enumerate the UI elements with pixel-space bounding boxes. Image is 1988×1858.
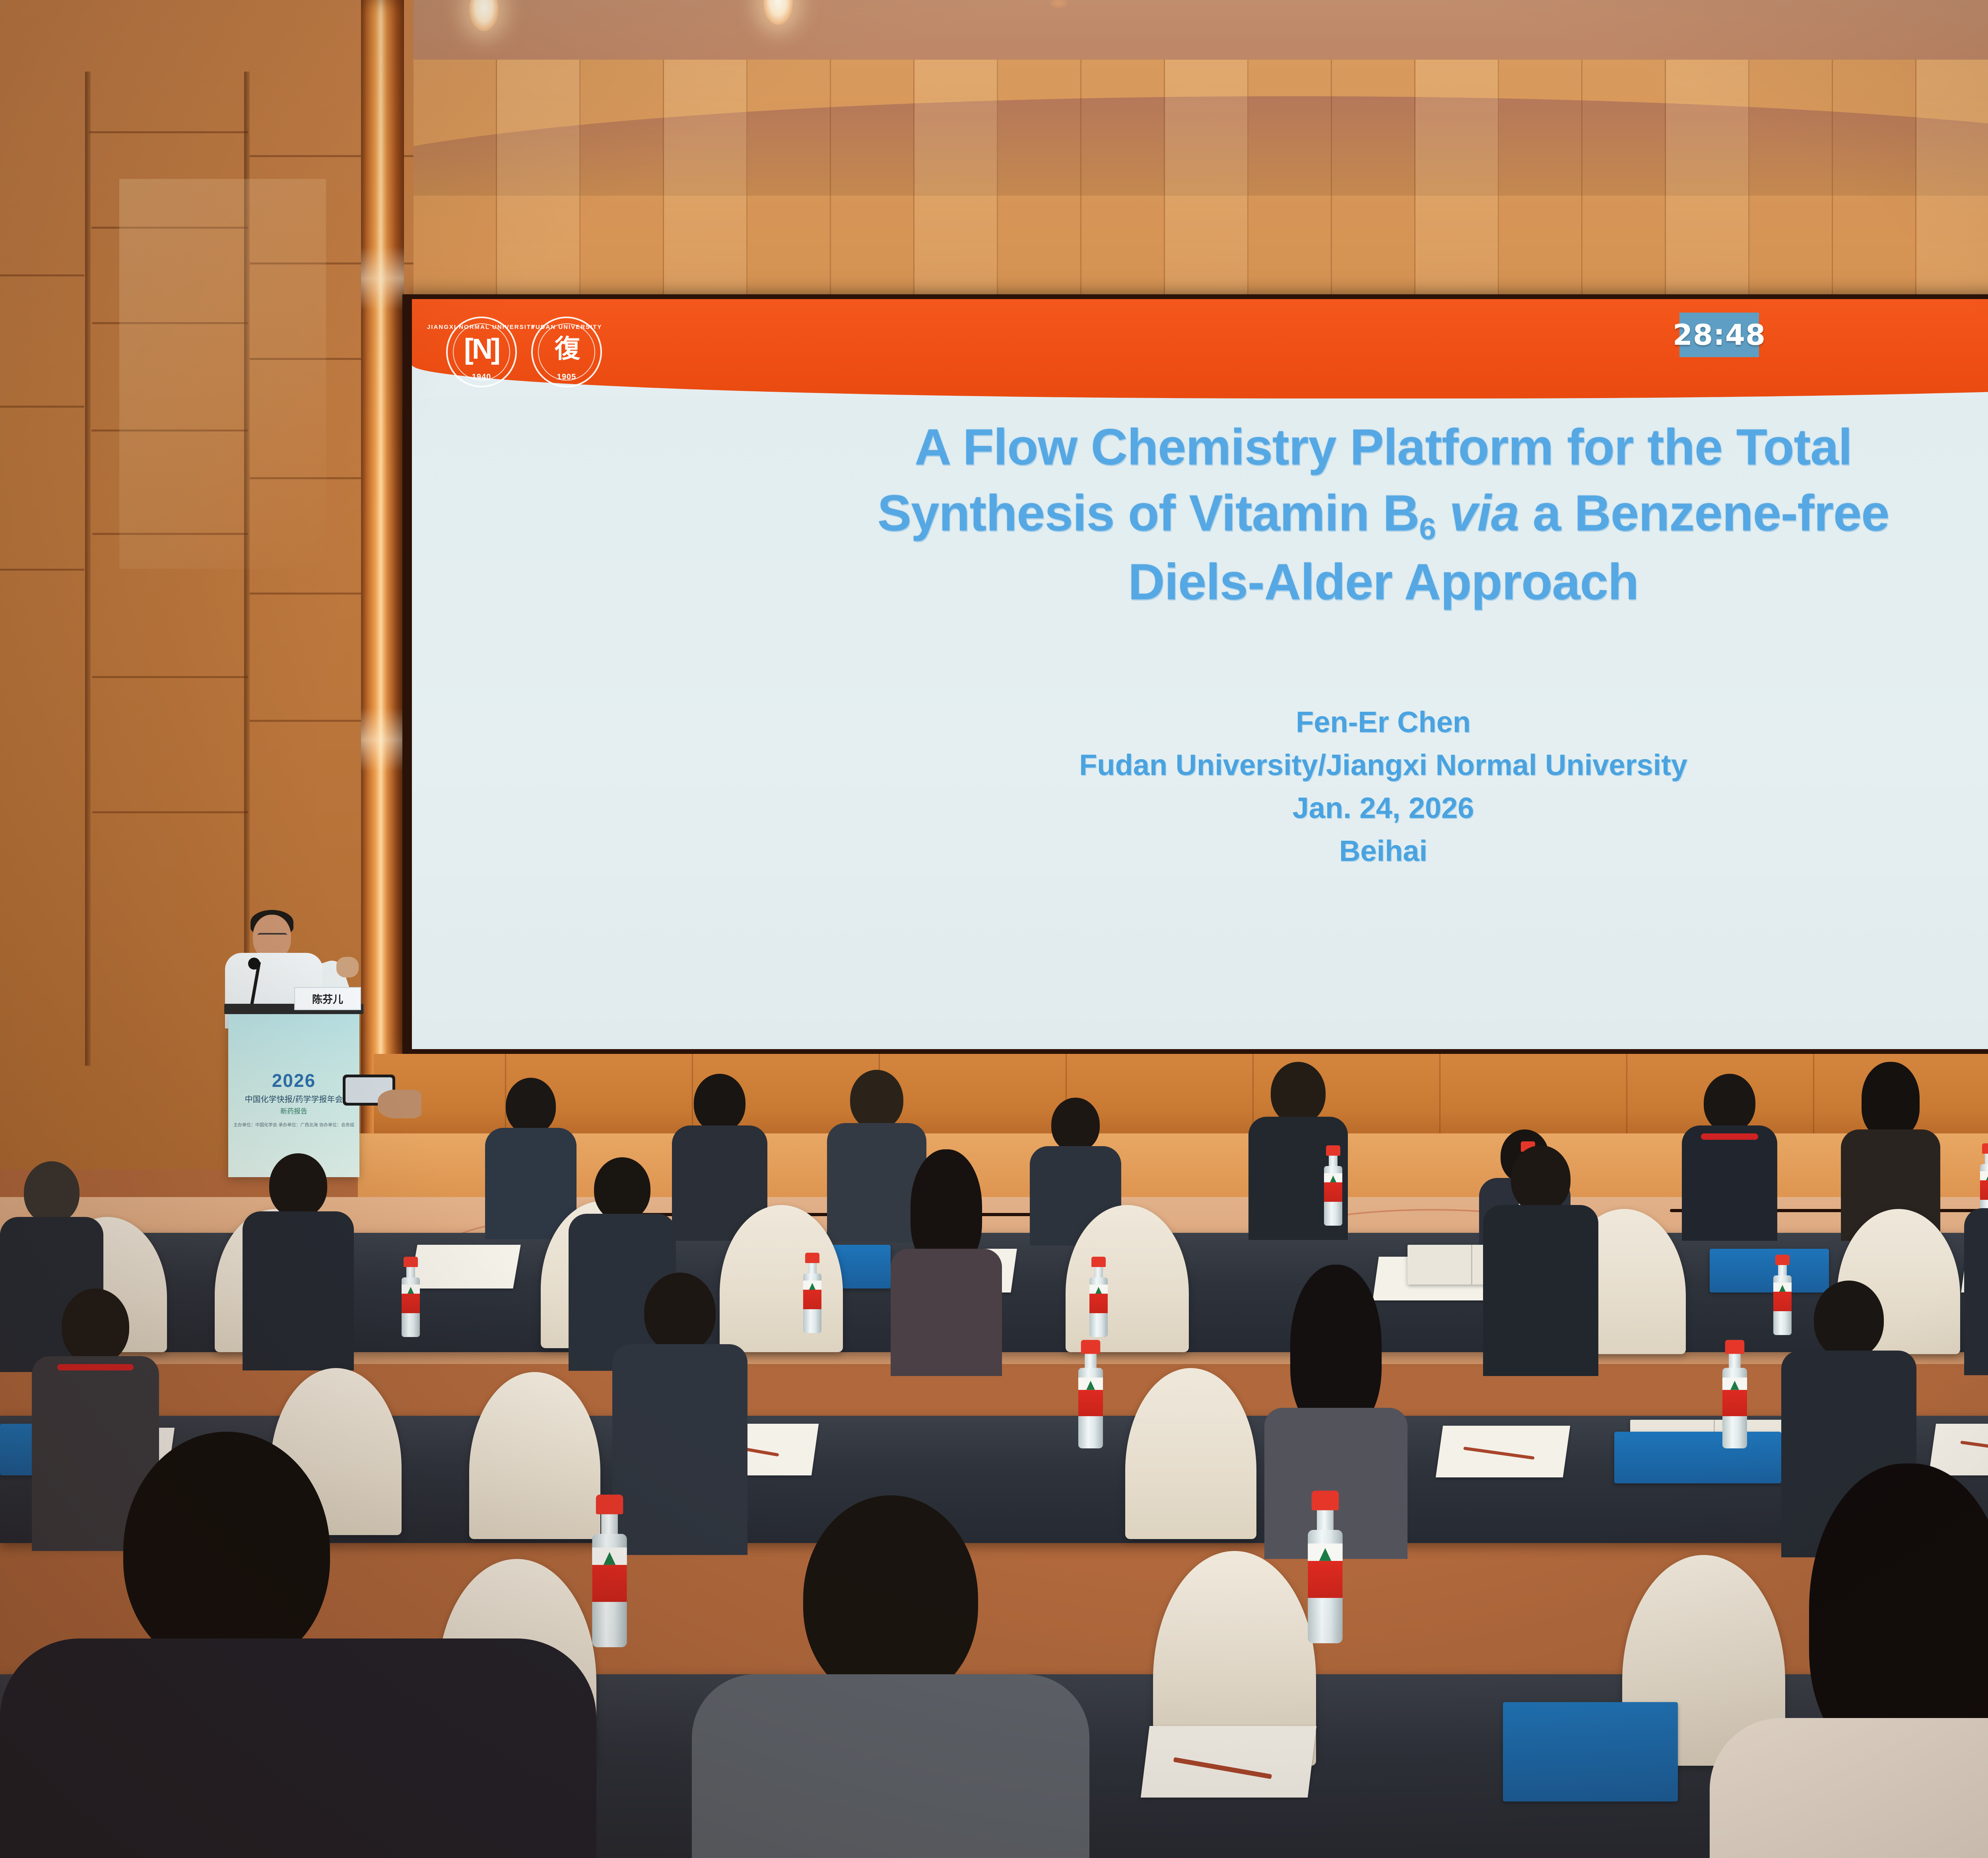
speaker-hand [336, 957, 359, 978]
bottle-leaf-icon [809, 1283, 815, 1290]
bottle-leaf-icon [1330, 1176, 1336, 1182]
projection-screen[interactable]: JIANGXI NORMAL UNIVERSITY [N] 1940 FUDAN… [412, 299, 1988, 1049]
slide-title-via: via [1449, 485, 1519, 542]
bottle-neck [808, 1263, 817, 1273]
bottle-leaf-icon [1086, 1381, 1095, 1390]
column-glint [361, 708, 404, 772]
attendee [891, 1149, 1002, 1372]
bottle-body [1324, 1166, 1342, 1226]
column-glint [361, 247, 404, 310]
attendee-head [1511, 1145, 1571, 1212]
attendee-body [692, 1674, 1089, 1858]
attendee-body [1710, 1718, 1988, 1858]
bottle-body [592, 1534, 627, 1647]
attendee [1483, 1145, 1598, 1372]
attendee-head [594, 1157, 650, 1221]
slide-title-line3: Diels-Alder Approach [412, 549, 1988, 615]
stage-panel-seam [1626, 1054, 1627, 1133]
attendee [0, 1432, 596, 1858]
attendee-head [1814, 1281, 1884, 1359]
copper-column-left [361, 0, 404, 1169]
wall-seam-horizontal [89, 131, 248, 133]
attendee-head [269, 1153, 327, 1218]
speaker-nameplate: 陈芬儿 [294, 987, 361, 1010]
note-paper [410, 1245, 520, 1289]
countdown-timer-value: 28:48 [1673, 318, 1766, 352]
attendee [1710, 1463, 1988, 1858]
conference-folder [1503, 1702, 1678, 1802]
attendee-head [123, 1432, 330, 1670]
slide-author-block: Fen-Er Chen Fudan University/Jiangxi Nor… [412, 701, 1988, 873]
slide-title-line2: Synthesis of Vitamin B6 via a Benzene-fr… [412, 480, 1988, 549]
bottle-neck [1329, 1156, 1338, 1166]
attendee-body [1964, 1208, 1988, 1375]
logo-mark: 復 [555, 336, 579, 362]
attendee-body [0, 1638, 596, 1858]
presentation-date: Jan. 24, 2026 [412, 787, 1988, 830]
bottle-leaf-icon [1319, 1548, 1331, 1561]
bottle-cap [596, 1495, 623, 1514]
slide-title-line1: A Flow Chemistry Platform for the Total [412, 414, 1988, 480]
bottle-neck [1778, 1265, 1787, 1275]
wall-seam-horizontal [0, 274, 84, 276]
bottle-neck [406, 1267, 415, 1277]
attendee-head [24, 1161, 80, 1223]
attendee-hair [1290, 1265, 1382, 1432]
bottle-leaf-icon [408, 1287, 414, 1294]
slide-title-line2-a: Synthesis of Vitamin B [878, 485, 1419, 542]
attendee [1964, 1149, 1988, 1372]
bottle-body [1722, 1368, 1747, 1449]
slide-title-line2-b: a Benzene-free [1533, 485, 1889, 542]
bottle-neck [1094, 1267, 1103, 1277]
logo-year: 1940 [472, 373, 491, 382]
podium-banner-line3: 主办单位：中国化学会 承办单位：广西北海 协办单位：会务组 [228, 1122, 359, 1129]
logo-arc-text: FUDAN UNIVERSITY [531, 324, 602, 330]
podium-banner-year: 2026 [228, 1070, 359, 1091]
attendee-hair [1862, 1062, 1920, 1137]
attendee-body [1682, 1125, 1777, 1241]
bottle-cap [805, 1253, 819, 1263]
attendee [243, 1153, 354, 1368]
bottle-leaf-icon [1730, 1381, 1739, 1390]
water-bottle [1308, 1491, 1342, 1643]
stage-panel-seam [1813, 1054, 1814, 1133]
vitamin-subscript: 6 [1419, 512, 1435, 546]
wall-seam-horizontal [0, 569, 84, 571]
author-affiliation: Fudan University/Jiangxi Normal Universi… [412, 744, 1988, 787]
bottle-cap [1775, 1255, 1790, 1265]
attendee-head [1051, 1098, 1100, 1152]
jiangxi-normal-university-logo: JIANGXI NORMAL UNIVERSITY [N] 1940 [446, 317, 517, 387]
wall-light-pool [119, 179, 326, 569]
attendee-body [243, 1211, 354, 1370]
bottle-neck [1085, 1354, 1097, 1368]
podium-banner-line1: 中国化学快报/药学学报年会 [228, 1093, 359, 1104]
bottle-body [1308, 1530, 1342, 1643]
speaker-glasses [258, 933, 287, 939]
attendee-lanyard [1701, 1133, 1758, 1140]
note-paper [1436, 1426, 1570, 1477]
attendee-head [1271, 1062, 1326, 1124]
attendee-head [506, 1078, 556, 1134]
slide-header-band: JIANGXI NORMAL UNIVERSITY [N] 1940 FUDAN… [412, 299, 1988, 398]
wall-seam-horizontal [0, 406, 84, 408]
water-bottle [1324, 1145, 1342, 1226]
presentation-city: Beihai [412, 830, 1988, 873]
chair [1125, 1368, 1256, 1539]
countdown-timer-badge: 28:48 [1679, 313, 1759, 357]
bottle-cap [1725, 1340, 1745, 1354]
wall-seam [85, 72, 91, 1066]
bottle-body [1089, 1277, 1108, 1337]
speaker-nameplate-text: 陈芬儿 [312, 991, 343, 1006]
bottle-body [803, 1273, 821, 1333]
bottle-leaf-icon [1095, 1287, 1102, 1294]
microphone-head [248, 958, 260, 970]
water-bottle [1089, 1257, 1108, 1337]
bottle-body [1078, 1368, 1103, 1449]
water-bottle [402, 1257, 420, 1337]
attendee-body [891, 1249, 1002, 1376]
attendee-head [803, 1495, 978, 1702]
bottle-leaf-icon [604, 1552, 615, 1565]
podium-banner-line2: 新药报告 [228, 1106, 359, 1116]
attendee [692, 1495, 1089, 1858]
podium: 陈芬儿 2026 中国化学快报/药学学报年会 新药报告 主办单位：中国化学会 承… [228, 1010, 359, 1177]
attendee-body [1483, 1205, 1598, 1376]
attendee-head [644, 1273, 716, 1352]
attendee-head [62, 1289, 129, 1364]
bottle-body [402, 1277, 420, 1337]
water-bottle [803, 1253, 821, 1333]
attendee-head [694, 1074, 745, 1132]
attendee-hand-holding-phone [378, 1090, 421, 1118]
water-bottle [592, 1495, 627, 1647]
bottle-cap [1326, 1145, 1340, 1156]
slide-title: A Flow Chemistry Platform for the Total … [412, 414, 1988, 616]
bottle-cap [1081, 1340, 1101, 1354]
attendee [485, 1078, 577, 1237]
attendee-head [1704, 1074, 1755, 1132]
conference-hall-photo: JIANGXI NORMAL UNIVERSITY [N] 1940 FUDAN… [0, 0, 1988, 1858]
fudan-university-logo: FUDAN UNIVERSITY 復 1905 [531, 317, 602, 387]
logo-year: 1905 [557, 373, 577, 382]
note-paper [1141, 1726, 1316, 1798]
bottle-neck [601, 1514, 618, 1534]
author-name: Fen-Er Chen [412, 701, 1988, 744]
bottle-cap [1091, 1257, 1106, 1267]
wall-seam-horizontal [92, 811, 248, 813]
attendee-lanyard [57, 1364, 134, 1370]
attendee-head [850, 1070, 903, 1129]
water-bottle [1722, 1340, 1747, 1448]
logo-mark: [N] [464, 335, 499, 363]
bottle-neck [1729, 1354, 1741, 1368]
attendee [672, 1074, 767, 1237]
bottle-cap [1312, 1491, 1339, 1510]
attendee [1682, 1074, 1777, 1237]
water-bottle [1078, 1340, 1103, 1448]
logo-arc-text: JIANGXI NORMAL UNIVERSITY [427, 324, 536, 330]
podium-banner: 2026 中国化学快报/药学学报年会 新药报告 主办单位：中国化学会 承办单位：… [228, 1070, 359, 1129]
bottle-neck [1317, 1510, 1334, 1530]
bottle-cap [404, 1257, 418, 1267]
stage-panel-seam [1439, 1054, 1441, 1133]
wall-seam-horizontal [92, 676, 248, 678]
